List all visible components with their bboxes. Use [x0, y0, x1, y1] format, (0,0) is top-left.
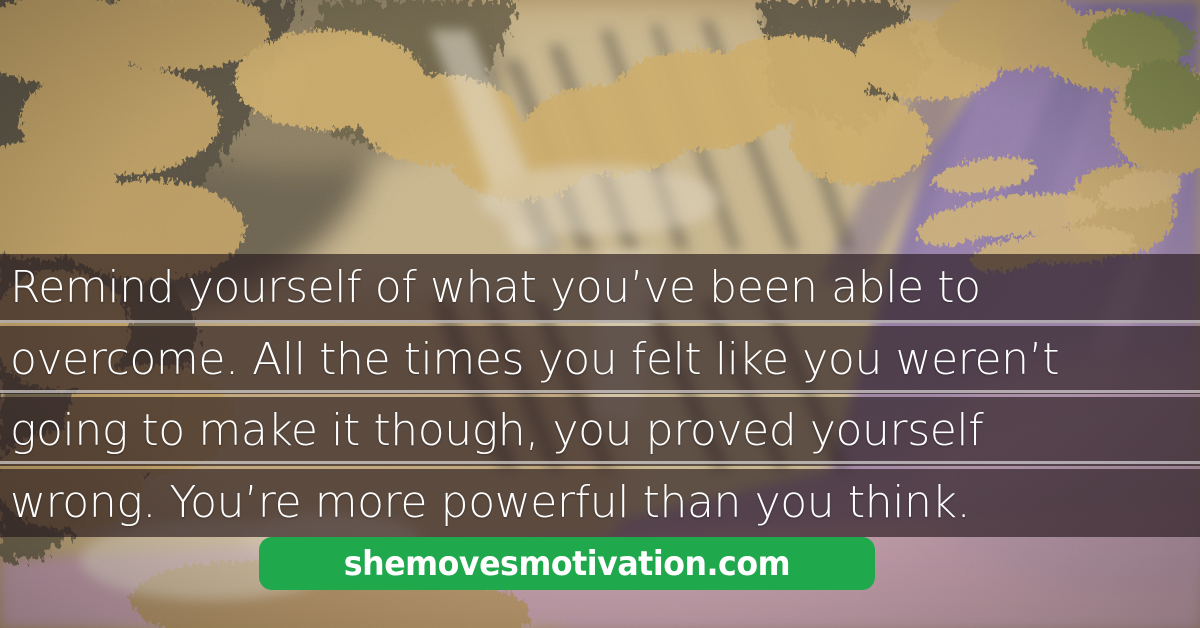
quote-line-2: overcome. All the times you felt like yo…	[0, 326, 1200, 395]
website-url-text: shemovesmotivation.com	[344, 547, 790, 581]
quote-line-4: wrong. You’re more powerful than you thi…	[0, 469, 1200, 538]
quote-line-3: going to make it though, you proved your…	[0, 397, 1200, 466]
quote-line-2-text: overcome. All the times you felt like yo…	[10, 338, 1059, 382]
quote-line-3-text: going to make it though, you proved your…	[10, 409, 983, 453]
quote-line-1-text: Remind yourself of what you’ve been able…	[10, 266, 981, 310]
quote-line-4-text: wrong. You’re more powerful than you thi…	[10, 481, 970, 525]
quote-overlay: Remind yourself of what you’ve been able…	[0, 254, 1200, 537]
quote-line-1: Remind yourself of what you’ve been able…	[0, 254, 1200, 323]
quote-card: Remind yourself of what you’ve been able…	[0, 0, 1200, 628]
website-url-badge[interactable]: shemovesmotivation.com	[259, 537, 875, 590]
